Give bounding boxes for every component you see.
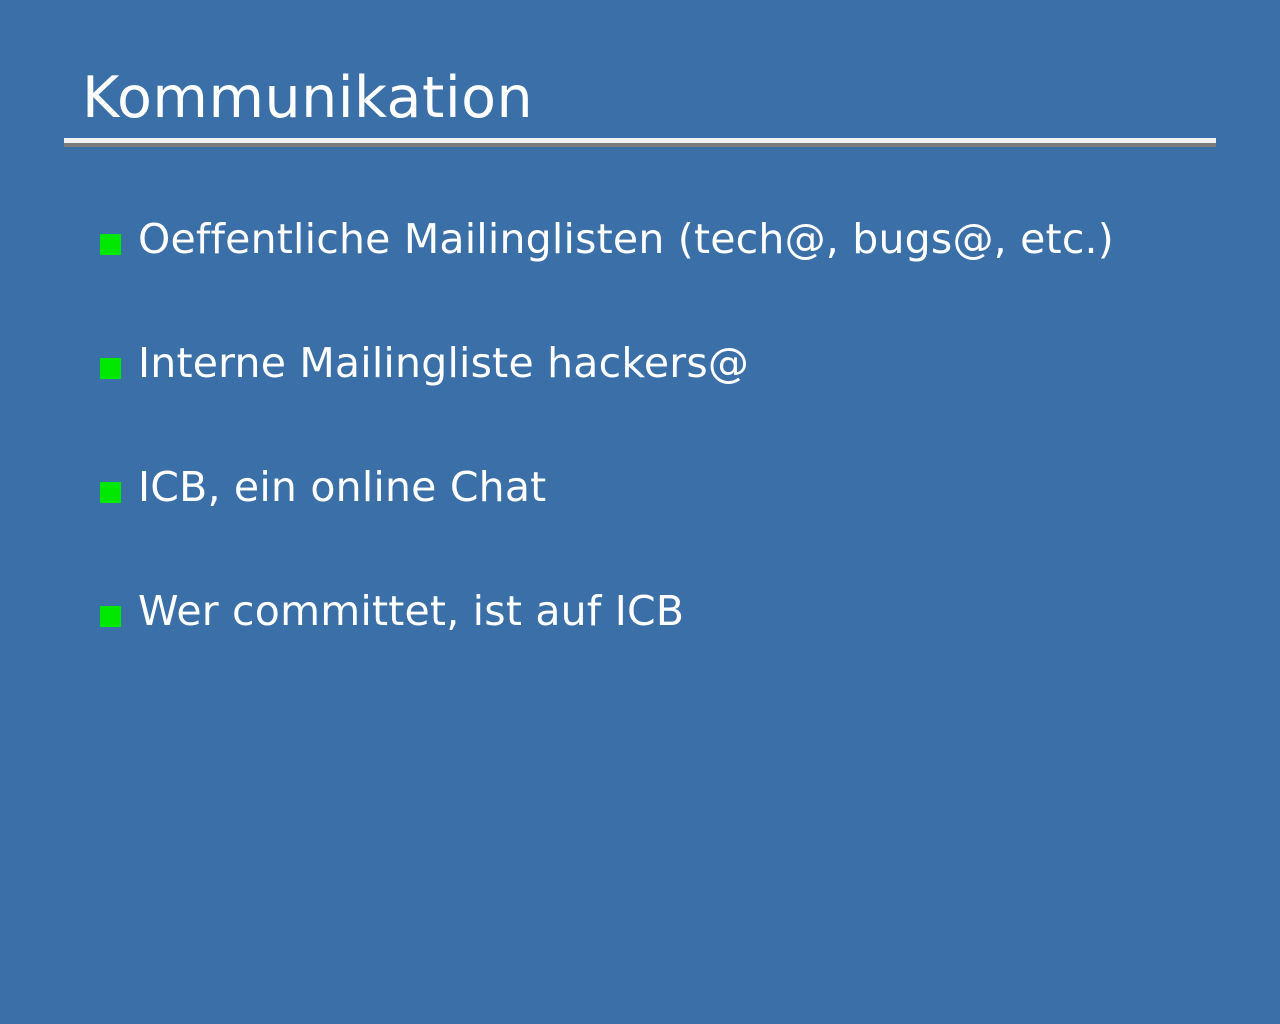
list-item: Wer committet, ist auf ICB [100, 580, 1260, 704]
list-item-label: Interne Mailingliste hackers@ [138, 332, 1260, 394]
page-title: Kommunikation [82, 62, 533, 134]
square-bullet-icon [100, 482, 121, 503]
square-bullet-icon [100, 606, 121, 627]
title-divider [64, 138, 1216, 147]
divider-shadow-band [64, 143, 1216, 147]
list-item-label: Wer committet, ist auf ICB [138, 580, 1260, 642]
slide-title-block: Kommunikation [64, 62, 1216, 147]
list-item: ICB, ein online Chat [100, 456, 1260, 580]
list-item-label: ICB, ein online Chat [138, 456, 1260, 518]
square-bullet-icon [100, 358, 121, 379]
list-item: Oeffentliche Mailinglisten (tech@, bugs@… [100, 208, 1260, 332]
presentation-slide: Kommunikation Oeffentliche Mailinglisten… [0, 0, 1280, 1024]
list-item: Interne Mailingliste hackers@ [100, 332, 1260, 456]
bullet-list: Oeffentliche Mailinglisten (tech@, bugs@… [100, 208, 1260, 704]
square-bullet-icon [100, 234, 121, 255]
list-item-label: Oeffentliche Mailinglisten (tech@, bugs@… [138, 208, 1260, 270]
